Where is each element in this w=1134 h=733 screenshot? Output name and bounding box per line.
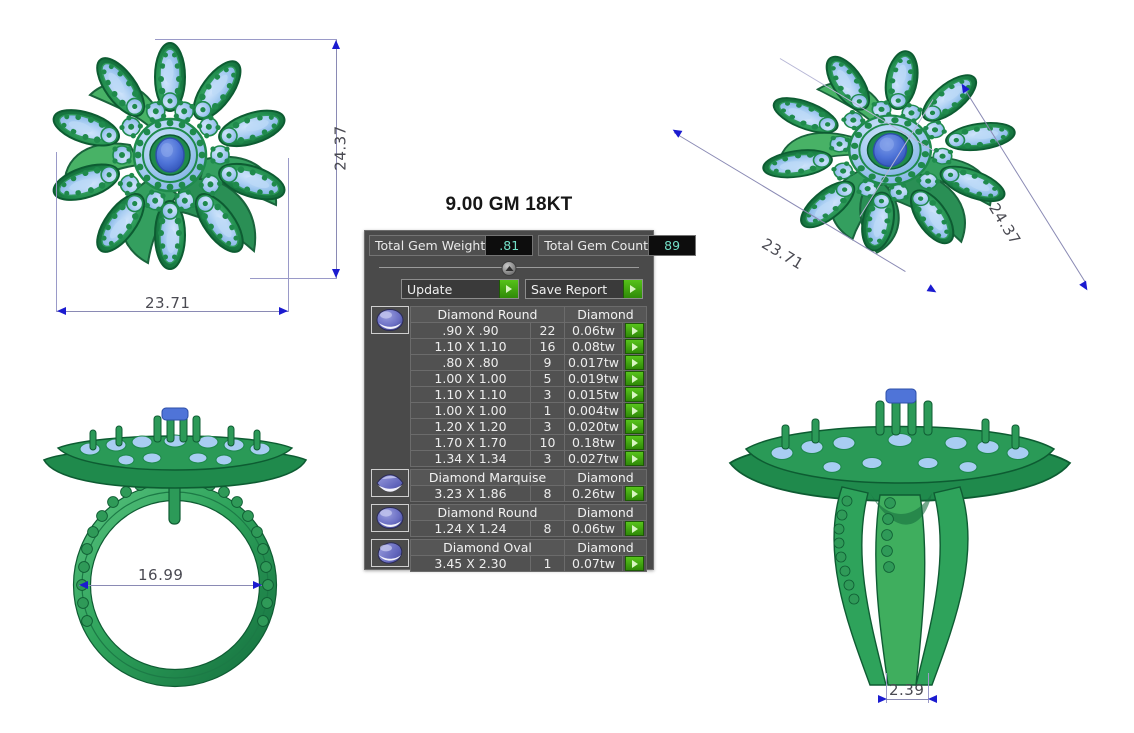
gem-qty: 3 <box>531 387 565 403</box>
play-arrow-icon <box>632 423 638 431</box>
gem-name-header: Diamond Round <box>411 307 565 323</box>
save-report-button-label: Save Report <box>526 282 623 297</box>
gem-size: 1.00 X 1.00 <box>411 371 531 387</box>
total-gem-weight-value: .81 <box>485 236 532 255</box>
gem-weight: 0.07tw <box>565 556 623 572</box>
gem-qty: 3 <box>531 451 565 467</box>
gem-group: Diamond Marquise Diamond 3.23 X 1.86 8 0… <box>371 469 647 502</box>
gem-qty: 10 <box>531 435 565 451</box>
cad-canvas: 24.37 23.71 <box>0 0 1134 733</box>
gem-table: Diamond Oval Diamond 3.45 X 2.30 1 0.07t… <box>410 539 647 572</box>
gem-row-action-cell <box>623 419 647 435</box>
gem-size: .90 X .90 <box>411 323 531 339</box>
dim-arrow-left <box>79 581 88 589</box>
table-header-row: Diamond Round Diamond <box>411 505 647 521</box>
table-row[interactable]: 1.20 X 1.20 3 0.020tw <box>411 419 647 435</box>
ring-top-view-render <box>20 10 320 300</box>
gem-qty: 1 <box>531 403 565 419</box>
gem-group: Diamond Oval Diamond 3.45 X 2.30 1 0.07t… <box>371 539 647 572</box>
gem-material-header: Diamond <box>565 505 647 521</box>
view-top-right: 23.71 24.37 <box>660 0 1134 380</box>
gem-weight: 0.017tw <box>565 355 623 371</box>
chevron-up-icon <box>505 266 513 271</box>
gem-weight: 0.015tw <box>565 387 623 403</box>
table-header-row: Diamond Marquise Diamond <box>411 470 647 486</box>
dim-arrow-right <box>253 581 262 589</box>
ring-side-profile-render <box>30 400 320 700</box>
gem-report-panel: Total Gem Weight .81 Total Gem Count 89 … <box>364 230 654 570</box>
gem-weight: 0.020tw <box>565 419 623 435</box>
gem-row-action-cell <box>623 387 647 403</box>
total-gem-weight: Total Gem Weight .81 <box>369 235 533 256</box>
gem-table: Diamond Round Diamond .90 X .90 22 0.06t… <box>410 306 647 467</box>
gem-weight: 0.06tw <box>565 323 623 339</box>
dim-line-horizontal <box>79 585 262 586</box>
gem-qty: 1 <box>531 556 565 572</box>
gem-size: 3.45 X 2.30 <box>411 556 531 572</box>
play-arrow-icon <box>632 490 638 498</box>
gem-size: 1.10 X 1.10 <box>411 339 531 355</box>
gem-name-header: Diamond Round <box>411 505 565 521</box>
gem-row-action-cell <box>623 371 647 387</box>
gem-row-action-cell <box>623 451 647 467</box>
gem-qty: 5 <box>531 371 565 387</box>
panel-actions: Update Save Report <box>401 279 643 299</box>
gem-group: Diamond Round Diamond .90 X .90 22 0.06t… <box>371 306 647 467</box>
ext-line <box>288 158 289 312</box>
table-header-row: Diamond Round Diamond <box>411 307 647 323</box>
gem-row-action-cell <box>623 339 647 355</box>
update-go-button[interactable] <box>499 280 518 298</box>
gem-row-action-cell <box>623 403 647 419</box>
gem-weight: 0.26tw <box>565 486 623 502</box>
play-arrow-icon <box>506 285 512 293</box>
collapse-panel-button[interactable] <box>502 261 517 276</box>
play-arrow-icon <box>632 359 638 367</box>
dim-line-horizontal <box>886 699 928 700</box>
gem-row-go-button[interactable] <box>625 556 644 571</box>
gem-row-action-cell <box>623 486 647 502</box>
table-row[interactable]: 1.00 X 1.00 5 0.019tw <box>411 371 647 387</box>
total-gem-count-label: Total Gem Count <box>539 236 648 255</box>
dim-arrow-right <box>878 695 887 703</box>
update-button-label: Update <box>402 282 499 297</box>
gem-size: 1.20 X 1.20 <box>411 419 531 435</box>
play-arrow-icon <box>632 375 638 383</box>
gem-weight: 0.027tw <box>565 451 623 467</box>
gem-size: 1.70 X 1.70 <box>411 435 531 451</box>
gem-qty: 22 <box>531 323 565 339</box>
gem-size: 1.24 X 1.24 <box>411 521 531 537</box>
view-bottom-left: 16.99 <box>0 390 360 733</box>
dimension-24-37-vertical: 24.37 <box>332 125 350 170</box>
play-arrow-icon <box>630 285 636 293</box>
gem-row-go-button[interactable] <box>625 435 644 450</box>
gem-material-header: Diamond <box>565 540 647 556</box>
play-arrow-icon <box>632 439 638 447</box>
table-row[interactable]: 1.34 X 1.34 3 0.027tw <box>411 451 647 467</box>
totals-row: Total Gem Weight .81 Total Gem Count 89 <box>369 235 649 256</box>
gem-qty: 8 <box>531 521 565 537</box>
view-bottom-right: 2.39 <box>690 375 1134 733</box>
dim-arrow-left <box>57 307 66 315</box>
gem-row-action-cell <box>623 355 647 371</box>
table-row[interactable]: 1.10 X 1.10 3 0.015tw <box>411 387 647 403</box>
gem-table: Diamond Round Diamond 1.24 X 1.24 8 0.06… <box>410 504 647 537</box>
save-report-go-button[interactable] <box>623 280 642 298</box>
gem-name-header: Diamond Oval <box>411 540 565 556</box>
gem-row-action-cell <box>623 556 647 572</box>
gem-row-go-button[interactable] <box>625 371 644 386</box>
total-gem-count-value: 89 <box>648 236 695 255</box>
gem-row-go-button[interactable] <box>625 451 644 466</box>
ext-line <box>155 39 337 40</box>
gem-qty: 9 <box>531 355 565 371</box>
gem-name-header: Diamond Marquise <box>411 470 565 486</box>
ring-front-profile-render <box>720 375 1080 705</box>
play-arrow-icon <box>632 455 638 463</box>
gem-row-action-cell <box>623 323 647 339</box>
dim-arrow-right <box>279 307 288 315</box>
round-gem-icon[interactable] <box>371 306 409 334</box>
gem-qty: 3 <box>531 419 565 435</box>
dimension-16-99: 16.99 <box>138 566 183 584</box>
gem-row-go-button[interactable] <box>625 521 644 536</box>
gem-row-go-button[interactable] <box>625 355 644 370</box>
collapse-divider <box>379 261 639 275</box>
gem-size: 1.10 X 1.10 <box>411 387 531 403</box>
play-arrow-icon <box>632 525 638 533</box>
total-gem-count: Total Gem Count 89 <box>538 235 696 256</box>
gem-row-go-button[interactable] <box>625 403 644 418</box>
gem-weight: 0.019tw <box>565 371 623 387</box>
table-row[interactable]: .90 X .90 22 0.06tw <box>411 323 647 339</box>
play-arrow-icon <box>632 560 638 568</box>
table-row[interactable]: 1.24 X 1.24 8 0.06tw <box>411 521 647 537</box>
round-gem-icon[interactable] <box>371 504 409 532</box>
dim-arrow-left <box>928 695 937 703</box>
play-arrow-icon <box>632 327 638 335</box>
oval-gem-icon[interactable] <box>371 539 409 567</box>
play-arrow-icon <box>632 407 638 415</box>
gem-qty: 16 <box>531 339 565 355</box>
gem-row-go-button[interactable] <box>625 339 644 354</box>
gem-row-go-button[interactable] <box>625 323 644 338</box>
table-row[interactable]: 3.45 X 2.30 1 0.07tw <box>411 556 647 572</box>
table-row[interactable]: 1.00 X 1.00 1 0.004tw <box>411 403 647 419</box>
marquise-gem-icon[interactable] <box>371 469 409 497</box>
ext-line <box>250 278 337 279</box>
update-button[interactable]: Update <box>401 279 519 299</box>
table-row[interactable]: .80 X .80 9 0.017tw <box>411 355 647 371</box>
dim-arrow-down <box>332 269 340 278</box>
gem-row-go-button[interactable] <box>625 419 644 434</box>
gem-groups: Diamond Round Diamond .90 X .90 22 0.06t… <box>371 306 647 572</box>
view-top-left: 24.37 23.71 <box>0 0 360 340</box>
ext-line <box>56 152 57 312</box>
play-arrow-icon <box>632 391 638 399</box>
gem-group: Diamond Round Diamond 1.24 X 1.24 8 0.06… <box>371 504 647 537</box>
gem-size: 3.23 X 1.86 <box>411 486 531 502</box>
gem-table: Diamond Marquise Diamond 3.23 X 1.86 8 0… <box>410 469 647 502</box>
gem-size: .80 X .80 <box>411 355 531 371</box>
gem-size: 1.00 X 1.00 <box>411 403 531 419</box>
gem-weight: 0.004tw <box>565 403 623 419</box>
dim-arrow-down <box>1079 281 1091 293</box>
gem-row-action-cell <box>623 521 647 537</box>
dim-arrow-up <box>332 40 340 49</box>
table-row[interactable]: 3.23 X 1.86 8 0.26tw <box>411 486 647 502</box>
gem-weight: 0.18tw <box>565 435 623 451</box>
gem-size: 1.34 X 1.34 <box>411 451 531 467</box>
page-title: 9.00 GM 18KT <box>364 194 654 216</box>
gem-material-header: Diamond <box>565 307 647 323</box>
total-gem-weight-label: Total Gem Weight <box>370 236 485 255</box>
gem-row-action-cell <box>623 435 647 451</box>
gem-material-header: Diamond <box>565 470 647 486</box>
table-row[interactable]: 1.70 X 1.70 10 0.18tw <box>411 435 647 451</box>
gem-weight: 0.08tw <box>565 339 623 355</box>
gem-row-go-button[interactable] <box>625 486 644 501</box>
gem-weight: 0.06tw <box>565 521 623 537</box>
table-row[interactable]: 1.10 X 1.10 16 0.08tw <box>411 339 647 355</box>
table-header-row: Diamond Oval Diamond <box>411 540 647 556</box>
gem-qty: 8 <box>531 486 565 502</box>
gem-row-go-button[interactable] <box>625 387 644 402</box>
dimension-2-39: 2.39 <box>889 681 924 699</box>
save-report-button[interactable]: Save Report <box>525 279 643 299</box>
dimension-23-71-horizontal: 23.71 <box>145 294 190 312</box>
play-arrow-icon <box>632 343 638 351</box>
